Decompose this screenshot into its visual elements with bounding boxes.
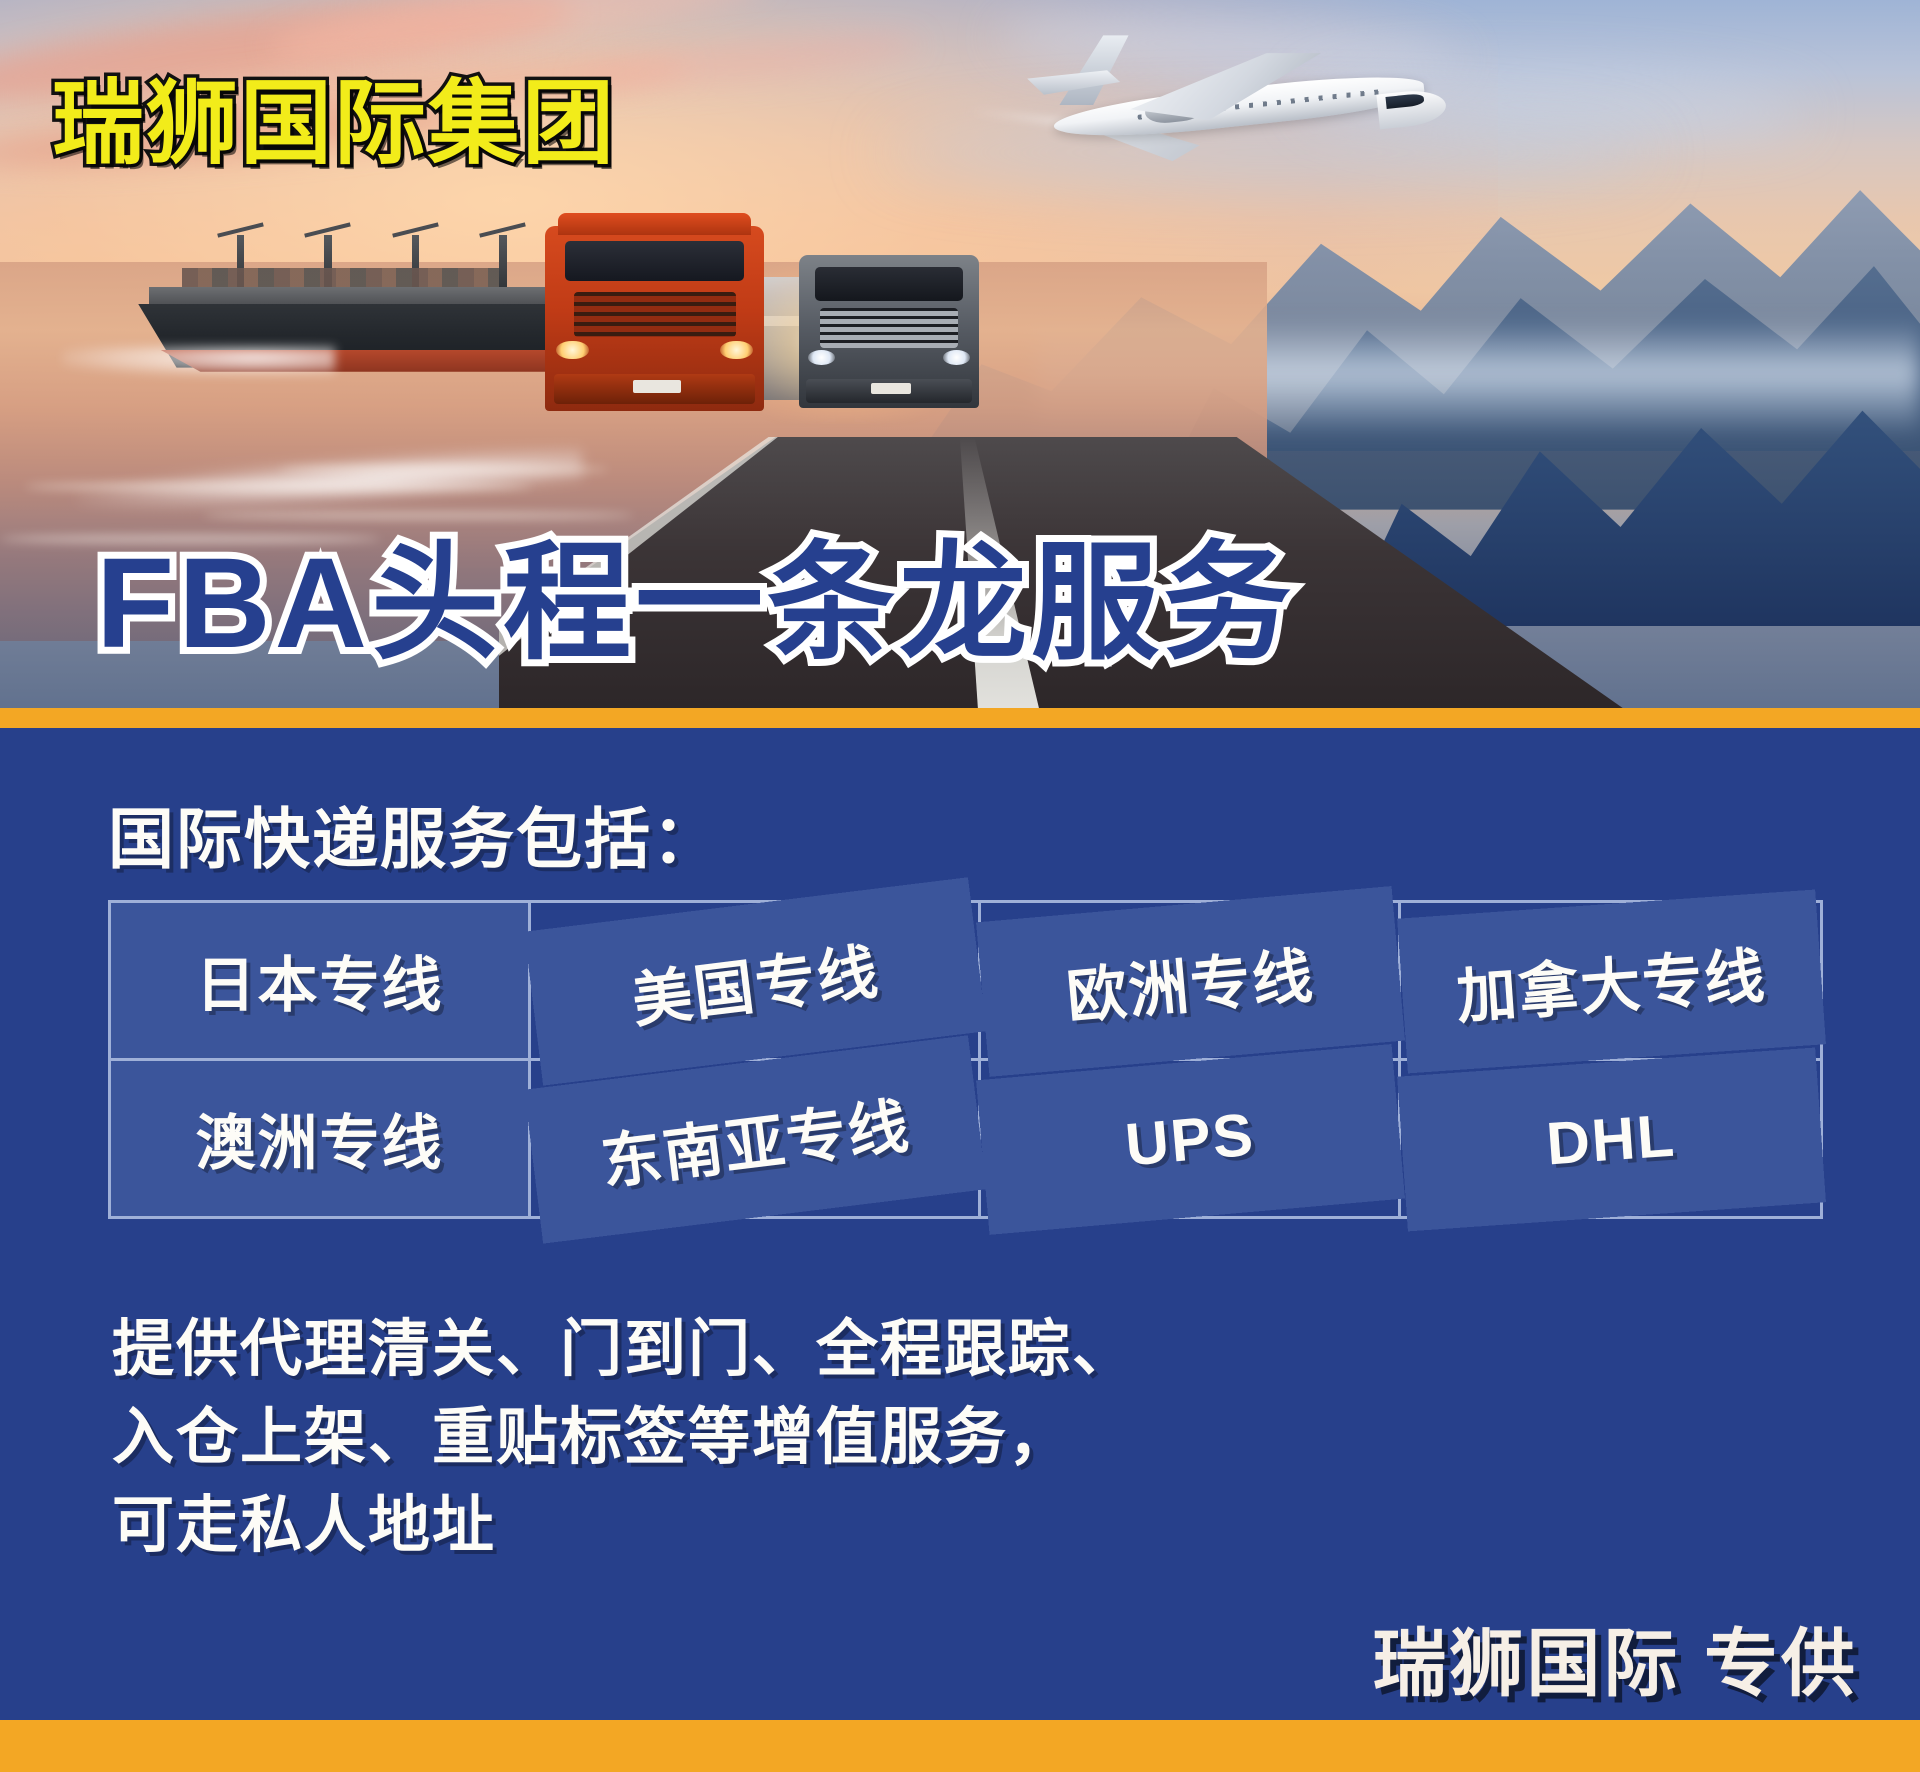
value-added-services-description: 提供代理清关、门到门、全程跟踪、 入仓上架、重贴标签等增值服务， 可走私人地址: [112, 1306, 1136, 1570]
hero-banner: 瑞狮国际集团 FBA头程一条龙服务: [0, 0, 1920, 728]
wave-icon: [203, 512, 634, 520]
footer-attribution: 瑞狮国际 专供: [1372, 1604, 1858, 1711]
company-logo-text: 瑞狮国际集团: [52, 78, 616, 170]
logistics-advertisement-poster: 瑞狮国际集团 FBA头程一条龙服务 国际快递服务包括： 日本专线 美国专线 欧洲…: [0, 0, 1920, 1772]
grey-truck-headlight-icon: [943, 350, 970, 365]
grey-truck-windshield: [815, 267, 963, 301]
grey-truck-grille: [820, 308, 957, 348]
grey-truck-plate: [871, 383, 911, 394]
panel-title: 国际快递服务包括：: [108, 786, 720, 882]
grey-truck-headlight-icon: [808, 350, 835, 365]
service-cell-japan[interactable]: 日本专线: [110, 902, 530, 1060]
services-table: 日本专线 美国专线 欧洲专线 加拿大专线 澳洲专线 东南亚专线 UPS DHL: [108, 900, 1823, 1219]
service-cell-dhl[interactable]: DHL: [1395, 1045, 1827, 1232]
bottom-gold-bar: [0, 1720, 1920, 1772]
red-truck-windshield: [565, 241, 744, 282]
ship-containers: [182, 268, 499, 287]
ship-wake: [62, 346, 336, 376]
grey-truck-icon: [799, 255, 979, 408]
hero-headline: FBA头程一条龙服务: [96, 540, 1295, 668]
service-cell-australia[interactable]: 澳洲专线: [110, 1060, 530, 1218]
table-row: 澳洲专线 东南亚专线 UPS DHL: [110, 1060, 1822, 1218]
gold-divider-bar: [0, 708, 1920, 728]
description-line-2: 入仓上架、重贴标签等增值服务，: [112, 1394, 1136, 1482]
airplane-icon: [1027, 11, 1449, 186]
red-truck-roof: [558, 213, 751, 235]
services-panel: 国际快递服务包括： 日本专线 美国专线 欧洲专线 加拿大专线 澳洲专线 东南亚专…: [0, 728, 1920, 1720]
red-truck-icon: [545, 226, 764, 412]
service-cell-canada[interactable]: 加拿大专线: [1395, 887, 1827, 1074]
airplane-vertical-stabilizer: [1044, 35, 1128, 105]
sea-foam: [75, 441, 584, 522]
ship-crane-icon: [499, 235, 507, 288]
red-truck-plate: [633, 380, 681, 393]
red-truck-grille: [574, 292, 736, 337]
description-line-3: 可走私人地址: [112, 1482, 1136, 1570]
description-line-1: 提供代理清关、门到门、全程跟踪、: [112, 1306, 1136, 1394]
